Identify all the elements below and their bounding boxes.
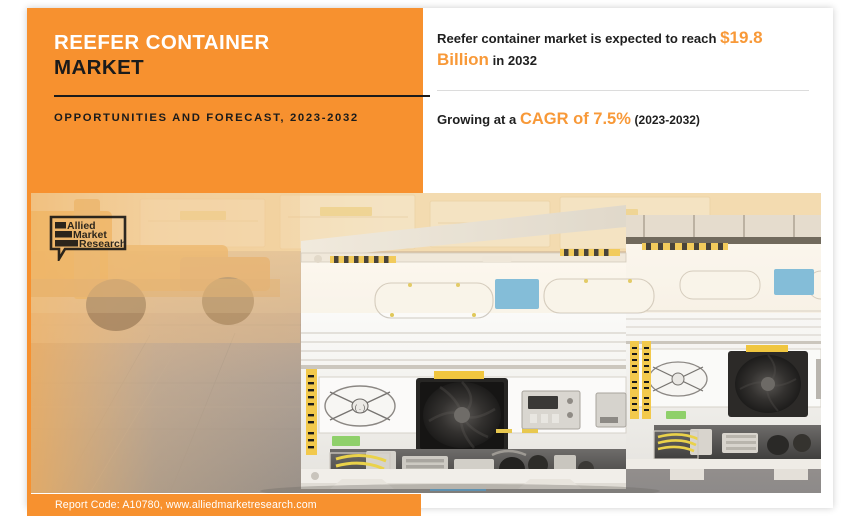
watermark-line3: Research <box>79 238 126 250</box>
photo-left-accent-bar <box>27 193 31 508</box>
title-block: REEFER CONTAINER MARKET OPPORTUNITIES AN… <box>27 8 423 193</box>
stat-market-size-suffix: in 2032 <box>493 53 537 68</box>
stats-panel: Reefer container market is expected to r… <box>437 28 817 131</box>
footer-bar: Report Code: A10780, www.alliedmarketres… <box>27 494 421 516</box>
page-subtitle: OPPORTUNITIES AND FORECAST, 2023-2032 <box>54 110 397 127</box>
infographic-card: REEFER CONTAINER MARKET OPPORTUNITIES AN… <box>27 8 833 508</box>
stat-cagr: Growing at a CAGR of 7.5% (2023-2032) <box>437 109 817 131</box>
svg-text:( . ): ( . ) <box>355 405 366 412</box>
stat-cagr-suffix: (2023-2032) <box>635 113 700 127</box>
photo-illustration: ( . ) <box>30 193 821 493</box>
reefer-container-photo: ( . ) <box>30 193 821 493</box>
page-title-line2: MARKET <box>54 55 397 80</box>
stat-market-size-prefix: Reefer container market is expected to r… <box>437 31 716 46</box>
stat-market-size: Reefer container market is expected to r… <box>437 28 817 71</box>
stat-cagr-prefix: Growing at a <box>437 112 516 127</box>
title-divider <box>54 95 430 97</box>
stat-cagr-value: CAGR of 7.5% <box>520 110 631 128</box>
footer-report-code-text: Report Code: A10780, www.alliedmarketres… <box>55 499 317 511</box>
allied-market-research-watermark-logo: Allied Market Research <box>49 215 127 261</box>
page-title-line1: REEFER CONTAINER <box>54 30 397 55</box>
stats-divider <box>437 90 809 91</box>
